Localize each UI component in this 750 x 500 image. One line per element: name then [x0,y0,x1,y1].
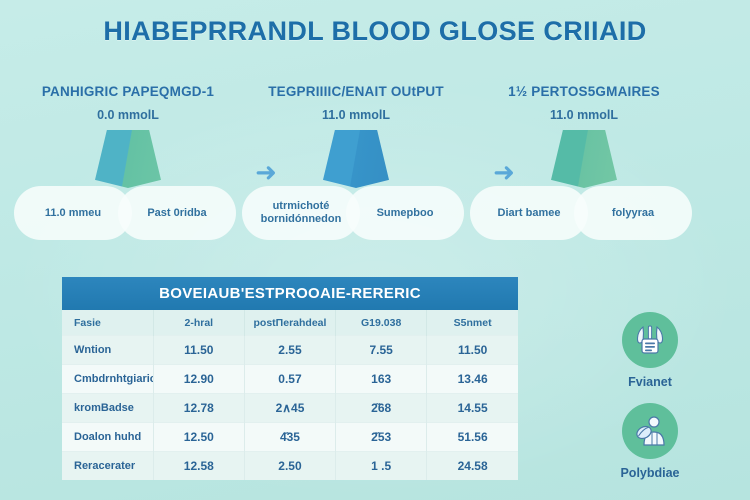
row-cell: 7.55 [336,336,427,365]
stage-1-bubbles: 11.0 mmeu Past 0ridba [14,186,242,244]
stage-3-bubbles: Diart bamee folyyraa [470,186,698,244]
stage-panel-1: PANHIGRIC PAPEQMGD-1 0.0 mmolL 11.0 mmeu… [14,84,242,244]
table-row[interactable]: Cmbdrnhtgiariol 12.90 0.57 163 13.46 [62,365,518,394]
column-header-2[interactable]: postПerahdeal [244,310,335,336]
table-title: BOVEIAUB'ESTPROOAIE-RERERIC [62,277,518,310]
stage-3-bubble-right[interactable]: folyyraa [574,186,692,240]
row-label: Doalon huhd [62,423,153,452]
kidney-organ-icon [551,130,617,188]
stage-1-value: 0.0 mmolL [14,108,242,122]
stage-1-heading: PANHIGRIC PAPEQMGD-1 [14,84,242,99]
stage-2-bubble-right[interactable]: Sumepboo [346,186,464,240]
row-cell: 2.55 [244,336,335,365]
row-cell: 2᷉68 [336,394,427,423]
stage-3-heading: 1½ PERTOS5GMAIRES [470,84,698,99]
row-label: Cmbdrnhtgiariol [62,365,153,394]
flow-arrow-icon: ➜ [488,160,520,184]
row-cell: 0.57 [244,365,335,394]
page-title: HIABEPRRANDL BLOOD GLOSE CRIIAID [0,16,750,47]
infographic-canvas: HIABEPRRANDL BLOOD GLOSE CRIIAID PANHIGR… [0,0,750,500]
table-row[interactable]: Reracerater 12.58 2.50 1 .5 24.58 [62,452,518,481]
row-label: kromBadse [62,394,153,423]
row-cell: 11.50 [427,336,518,365]
stage-flow: PANHIGRIC PAPEQMGD-1 0.0 mmolL 11.0 mmeu… [14,84,736,254]
row-cell: 24.58 [427,452,518,481]
column-header-0[interactable]: Fasie [62,310,153,336]
row-label: Reracerater [62,452,153,481]
stage-2-heading: TEGPRIIIIC/ENAIT OUtPUT [242,84,470,99]
flow-arrow-icon: ➜ [250,160,282,184]
table-row[interactable]: Wntion 11.50 2.55 7.55 11.50 [62,336,518,365]
row-cell: 12.58 [153,452,244,481]
row-cell: 14.55 [427,394,518,423]
results-table: BOVEIAUB'ESTPROOAIE-RERERIC Fasie 2-hral… [62,277,518,480]
table-row[interactable]: Doalon huhd 12.50 4᷈35 2᷈53 51.56 [62,423,518,452]
pancreas-organ-icon [95,130,161,188]
row-cell: 4᷈35 [244,423,335,452]
column-header-4[interactable]: S5nmet [427,310,518,336]
liver-organ-icon [323,130,389,188]
table-row[interactable]: kromBadse 12.78 2∧45 2᷉68 14.55 [62,394,518,423]
row-cell: 12.78 [153,394,244,423]
table-header-row: Fasie 2-hral postПerahdeal G19.038 S5nme… [62,310,518,336]
column-header-3[interactable]: G19.038 [336,310,427,336]
stage-2-value: 11.0 mmolL [242,108,470,122]
column-header-1[interactable]: 2-hral [153,310,244,336]
badge-item-1[interactable]: Fvianet [560,312,740,389]
row-cell: 2᷈53 [336,423,427,452]
row-cell: 1 .5 [336,452,427,481]
stage-1-bubble-left[interactable]: 11.0 mmeu [14,186,132,240]
row-cell: 163 [336,365,427,394]
stage-3-value: 11.0 mmolL [470,108,698,122]
row-cell: 11.50 [153,336,244,365]
badge-item-2[interactable]: Polybdiae [560,403,740,480]
measurements-table: Fasie 2-hral postПerahdeal G19.038 S5nme… [62,310,518,480]
stage-2-bubble-left[interactable]: utrmichoté bornidónnedon [242,186,360,240]
row-cell: 2.50 [244,452,335,481]
stage-3-bubble-left[interactable]: Diart bamee [470,186,588,240]
stage-2-bubbles: utrmichoté bornidónnedon Sumepboo [242,186,470,244]
row-label: Wntion [62,336,153,365]
stage-1-bubble-right[interactable]: Past 0ridba [118,186,236,240]
row-cell: 51.56 [427,423,518,452]
badge-label: Polybdiae [560,466,740,480]
stage-1-organ-wrap [14,130,242,192]
lungs-doctor-icon [622,312,678,368]
row-cell: 12.50 [153,423,244,452]
patient-care-icon [622,403,678,459]
row-cell: 12.90 [153,365,244,394]
row-cell: 13.46 [427,365,518,394]
badge-label: Fvianet [560,375,740,389]
row-cell: 2∧45 [244,394,335,423]
badge-list: Fvianet Polybdiae [560,312,740,494]
